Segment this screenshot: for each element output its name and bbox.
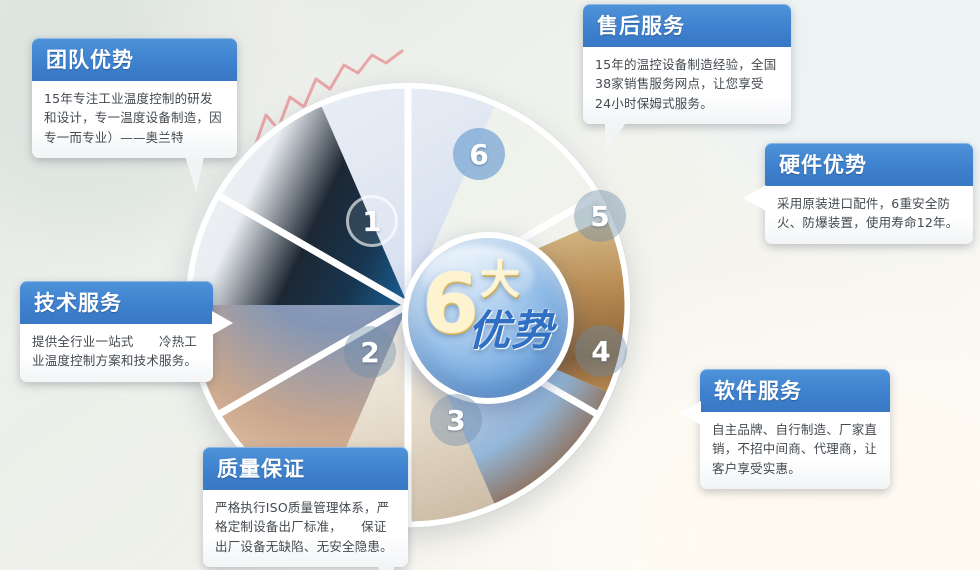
segment-badge-1[interactable]: 1 [346,195,398,247]
callout-title: 硬件优势 [765,143,973,186]
segment-badge-4[interactable]: 4 [575,325,627,377]
callout-after-sales-service[interactable]: 售后服务 15年的温控设备制造经验，全国38家销售服务网点，让您享受24小时保姆… [583,4,791,124]
callout-body: 采用原装进口配件，6重安全防火、防爆装置，使用寿命12年。 [765,186,973,244]
callout-tail [212,311,233,335]
callout-body: 15年专注工业温度控制的研发和设计，专一温度设备制造，因专一而专业）——奥兰特 [32,81,237,158]
callout-title: 质量保证 [203,447,408,490]
callout-tail [743,185,766,211]
callout-title: 软件服务 [700,369,890,412]
segment-badge-3[interactable]: 3 [430,394,482,446]
callout-body: 自主品牌、自行制造、厂家直销，不招中间商、代理商，让客户享受实惠。 [700,412,890,489]
callout-software-service[interactable]: 软件服务 自主品牌、自行制造、厂家直销，不招中间商、代理商，让客户享受实惠。 [700,369,890,489]
center-sub-word: 优势 [468,310,554,352]
callout-body: 15年的温控设备制造经验，全国38家销售服务网点，让您享受24小时保姆式服务。 [583,47,791,124]
infographic-canvas: 6 大 优势 1 2 3 4 5 6 团队优势 15年专注工业温度控制的研发和设… [0,0,980,570]
callout-title: 团队优势 [32,38,237,81]
callout-title: 售后服务 [583,4,791,47]
center-badge: 6 大 优势 [402,232,574,404]
center-big-word: 大 [480,260,520,300]
callout-hardware-advantage[interactable]: 硬件优势 采用原装进口配件，6重安全防火、防爆装置，使用寿命12年。 [765,143,973,244]
callout-body: 提供全行业一站式 冷热工业温度控制方案和技术服务。 [20,324,213,382]
callout-quality-assurance[interactable]: 质量保证 严格执行ISO质量管理体系，严格定制设备出厂标准， 保证出厂设备无缺陷… [203,447,408,567]
callout-body: 严格执行ISO质量管理体系，严格定制设备出厂标准， 保证出厂设备无缺陷、无安全隐… [203,490,408,567]
callout-tail [680,401,701,425]
segment-badge-6[interactable]: 6 [453,128,505,180]
callout-tail [605,124,625,154]
segment-badge-5[interactable]: 5 [574,190,626,242]
callout-technical-service[interactable]: 技术服务 提供全行业一站式 冷热工业温度控制方案和技术服务。 [20,281,213,382]
callout-team-advantage[interactable]: 团队优势 15年专注工业温度控制的研发和设计，专一温度设备制造，因专一而专业）—… [32,38,237,158]
segment-badge-2[interactable]: 2 [344,326,396,378]
callout-title: 技术服务 [20,281,213,324]
